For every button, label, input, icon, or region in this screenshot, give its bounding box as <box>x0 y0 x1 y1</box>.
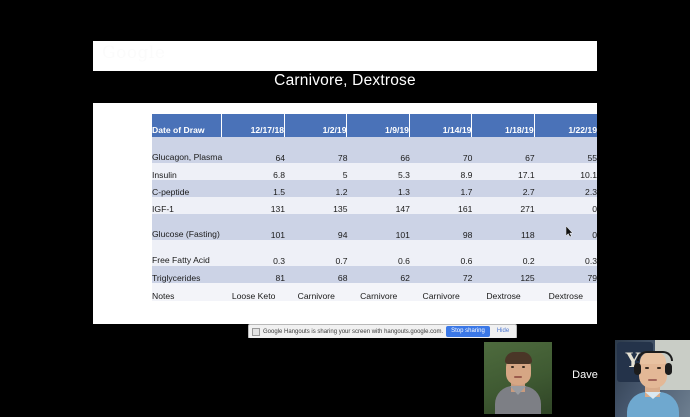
participant-mouth <box>514 376 522 378</box>
row-value: 10.1 <box>535 163 597 180</box>
row-value: 66 <box>347 137 409 163</box>
table-row-notes: Notes Loose Keto Carnivore Carnivore Car… <box>152 283 597 301</box>
row-value: 72 <box>410 266 472 283</box>
table-header-col-5: 1/22/19 <box>535 114 597 137</box>
table-row: Glucagon, Plasma 64 78 66 70 67 55 <box>152 137 597 163</box>
hide-notification-button[interactable]: Hide <box>493 326 513 337</box>
participant-eye-right <box>522 366 525 368</box>
table-header-col-2: 1/9/19 <box>347 114 409 137</box>
row-value: 78 <box>285 137 347 163</box>
participant-hair <box>505 352 532 364</box>
row-label: C-peptide <box>152 180 222 197</box>
row-value: 5 <box>285 163 347 180</box>
row-value: 161 <box>410 197 472 214</box>
row-value: 0.3 <box>222 240 285 266</box>
shared-screen-region[interactable]: Google Carnivore, Dextrose Date of Draw … <box>0 0 690 338</box>
row-value: 1.5 <box>222 180 285 197</box>
row-note: Carnivore <box>410 283 472 301</box>
row-value: 94 <box>285 214 347 240</box>
participant-eye-left <box>645 367 649 369</box>
headset-band-icon <box>637 351 673 361</box>
row-value: 81 <box>222 266 285 283</box>
table-header-col-3: 1/14/19 <box>410 114 472 137</box>
table-header-row: Date of Draw 12/17/18 1/2/19 1/9/19 1/14… <box>152 114 597 137</box>
slide-title: Carnivore, Dextrose <box>93 72 597 90</box>
row-value: 70 <box>410 137 472 163</box>
row-label: Glucagon, Plasma <box>152 137 222 163</box>
row-label: Notes <box>152 283 222 301</box>
share-notice-message: Google Hangouts is sharing your screen w… <box>263 329 443 335</box>
row-value: 62 <box>347 266 409 283</box>
row-value: 68 <box>285 266 347 283</box>
participant-eye-left <box>511 366 514 368</box>
row-value: 64 <box>222 137 285 163</box>
row-note: Carnivore <box>347 283 409 301</box>
row-label: Free Fatty Acid <box>152 240 222 266</box>
participant-eye-right <box>657 367 661 369</box>
row-value: 271 <box>472 197 534 214</box>
row-value: 0.2 <box>472 240 534 266</box>
row-value: 0.3 <box>535 240 597 266</box>
row-value: 118 <box>472 214 534 240</box>
video-call-stage: Google Carnivore, Dextrose Date of Draw … <box>0 0 690 417</box>
row-label: IGF-1 <box>152 197 222 214</box>
row-value: 131 <box>222 197 285 214</box>
stop-sharing-button[interactable]: Stop sharing <box>446 326 490 337</box>
row-note: Dextrose <box>472 283 534 301</box>
row-note: Carnivore <box>285 283 347 301</box>
row-value: 0.7 <box>285 240 347 266</box>
row-value: 0.6 <box>410 240 472 266</box>
row-value: 5.3 <box>347 163 409 180</box>
table-row: Triglycerides 81 68 62 72 125 79 <box>152 266 597 283</box>
table-row: C-peptide 1.5 1.2 1.3 1.7 2.7 2.3 <box>152 180 597 197</box>
row-value: 101 <box>222 214 285 240</box>
table-header-col-4: 1/18/19 <box>472 114 534 137</box>
row-value: 1.3 <box>347 180 409 197</box>
row-label: Glucose (Fasting) <box>152 214 222 240</box>
row-value: 1.7 <box>410 180 472 197</box>
row-value: 2.7 <box>472 180 534 197</box>
lab-results-table: Date of Draw 12/17/18 1/2/19 1/9/19 1/14… <box>152 114 597 301</box>
screen-share-notification: Google Hangouts is sharing your screen w… <box>248 324 517 339</box>
row-note: Dextrose <box>535 283 597 301</box>
row-value: 6.8 <box>222 163 285 180</box>
video-tile-remote[interactable]: Y <box>615 340 690 417</box>
row-value: 1.2 <box>285 180 347 197</box>
table-header-col-0: 12/17/18 <box>222 114 285 137</box>
table-row: IGF-1 131 135 147 161 271 0 <box>152 197 597 214</box>
table-row: Free Fatty Acid 0.3 0.7 0.6 0.6 0.2 0.3 <box>152 240 597 266</box>
table-row: Glucose (Fasting) 101 94 101 98 118 0 <box>152 214 597 240</box>
row-note: Loose Keto <box>222 283 285 301</box>
row-value: 125 <box>472 266 534 283</box>
row-label: Insulin <box>152 163 222 180</box>
browser-chrome-bar: Google <box>93 41 597 71</box>
video-tile-self[interactable] <box>484 342 552 414</box>
row-value: 135 <box>285 197 347 214</box>
mouse-cursor-icon <box>566 226 573 237</box>
row-label: Triglycerides <box>152 266 222 283</box>
row-value: 101 <box>347 214 409 240</box>
slide-canvas: Date of Draw 12/17/18 1/2/19 1/9/19 1/14… <box>93 103 597 324</box>
row-value: 17.1 <box>472 163 534 180</box>
row-value: 67 <box>472 137 534 163</box>
table-header-corner: Date of Draw <box>152 114 222 137</box>
row-value: 0.6 <box>347 240 409 266</box>
google-logo-watermark: Google <box>102 42 165 64</box>
table-header-col-1: 1/2/19 <box>285 114 347 137</box>
row-value: 98 <box>410 214 472 240</box>
participant-mouth <box>648 379 657 381</box>
row-value: 79 <box>535 266 597 283</box>
row-value: 55 <box>535 137 597 163</box>
speaker-name-label: Dave <box>560 369 610 381</box>
table-row: Insulin 6.8 5 5.3 8.9 17.1 10.1 <box>152 163 597 180</box>
row-value: 0 <box>535 197 597 214</box>
headset-earcup-left-icon <box>634 363 641 375</box>
row-value: 8.9 <box>410 163 472 180</box>
row-value: 2.3 <box>535 180 597 197</box>
headset-earcup-right-icon <box>665 363 672 375</box>
row-value: 147 <box>347 197 409 214</box>
share-screen-icon <box>252 328 260 336</box>
